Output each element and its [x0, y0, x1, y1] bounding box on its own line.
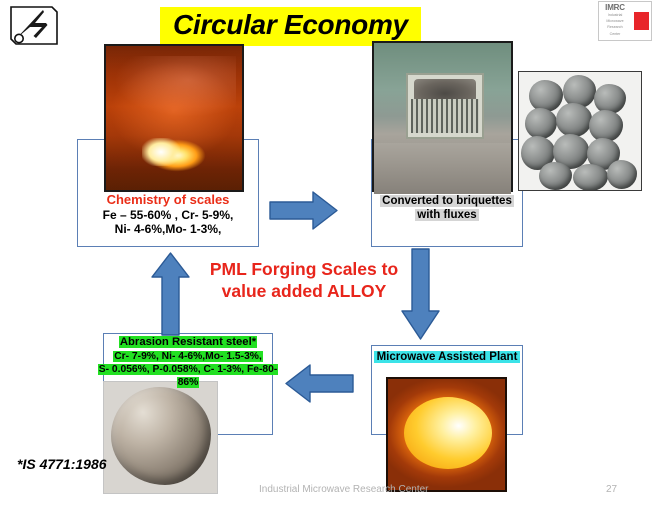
- alloy-line-3-text: S- 0.056%, P-0.058%, C- 1-3%, Fe-80-: [98, 364, 279, 375]
- press-grate: [411, 99, 479, 133]
- pml-logo-icon: [6, 3, 62, 48]
- briquette: [607, 160, 637, 189]
- photo-briquetting-press: [372, 41, 513, 192]
- photo-forging-furnace: [104, 44, 244, 192]
- plant-glow: [404, 397, 492, 469]
- label-abrasion-resistant-steel: Abrasion Resistant steel* Cr- 7-9%, Ni- …: [97, 335, 279, 390]
- center-caption: PML Forging Scales to value added ALLOY: [186, 258, 422, 303]
- alloy-line-4-text: 86%: [177, 377, 200, 388]
- scales-heading: Chemistry of scales: [79, 192, 257, 208]
- briquette: [525, 108, 557, 139]
- slide-canvas: IMRC Industrial Microwave Research Cente…: [0, 0, 658, 513]
- briquettes-line-2-text: with fluxes: [415, 209, 478, 221]
- alloy-line-2: Cr- 7-9%, Ni- 4-6%,Mo- 1.5-3%,: [97, 350, 279, 363]
- label-microwave-assisted-plant: Microwave Assisted Plant: [371, 350, 523, 364]
- arrow-plant-to-alloy: [285, 363, 354, 404]
- imrc-subtitle-line-2: Microwave: [599, 19, 631, 24]
- footer-slide-number: 27: [606, 484, 617, 495]
- photo-alloy-ingot: [103, 381, 218, 494]
- scales-composition-line-1: Fe – 55-60% , Cr- 5-9%,: [79, 208, 257, 223]
- press-floor: [374, 143, 511, 194]
- imrc-red-square-icon: [634, 12, 649, 30]
- alloy-line-3: S- 0.056%, P-0.058%, C- 1-3%, Fe-80-: [97, 363, 279, 376]
- footnote-standard-reference: *IS 4771:1986: [17, 456, 107, 472]
- arrow-alloy-to-scales: [150, 252, 191, 336]
- furnace-hot-billet: [142, 138, 180, 166]
- alloy-line-1-text: Abrasion Resistant steel*: [119, 336, 257, 348]
- center-caption-line-2: value added ALLOY: [186, 280, 422, 302]
- scales-composition-line-2: Ni- 4-6%,Mo- 1-3%,: [79, 222, 257, 237]
- briquette: [529, 80, 563, 112]
- imrc-mark-wrap: [631, 2, 651, 40]
- alloy-line-4: 86%: [97, 376, 279, 389]
- imrc-logo: IMRC Industrial Microwave Research Cente…: [598, 1, 652, 41]
- arrow-scales-to-briquettes: [269, 190, 338, 231]
- briquette: [539, 162, 572, 190]
- center-caption-line-1: PML Forging Scales to: [186, 258, 422, 280]
- briquette: [594, 84, 626, 114]
- plant-label-text: Microwave Assisted Plant: [374, 351, 521, 363]
- label-converted-to-briquettes: Converted to briquettes with fluxes: [371, 194, 523, 222]
- imrc-title: IMRC: [599, 4, 631, 12]
- footer-organization: Industrial Microwave Research Center: [259, 484, 429, 495]
- photo-briquette-pile: [518, 71, 642, 191]
- imrc-subtitle-line-3: Research: [599, 25, 631, 30]
- briquettes-line-1-text: Converted to briquettes: [380, 195, 514, 207]
- press-frame: [406, 73, 484, 139]
- furnace-haze: [116, 56, 236, 116]
- briquette: [573, 164, 608, 191]
- plant-label-row: Microwave Assisted Plant: [371, 350, 523, 364]
- briquette: [589, 110, 623, 142]
- imrc-logo-text: IMRC Industrial Microwave Research Cente…: [599, 2, 631, 40]
- label-chemistry-of-scales: Chemistry of scales Fe – 55-60% , Cr- 5-…: [79, 192, 257, 237]
- imrc-subtitle-line-4: Center: [599, 32, 631, 37]
- imrc-subtitle-line-1: Industrial: [599, 13, 631, 18]
- briquettes-line-2: with fluxes: [371, 208, 523, 222]
- alloy-line-2-text: Cr- 7-9%, Ni- 4-6%,Mo- 1.5-3%,: [113, 351, 263, 362]
- photo-microwave-plant: [386, 377, 507, 492]
- briquette: [556, 103, 592, 137]
- alloy-line-1: Abrasion Resistant steel*: [97, 335, 279, 350]
- briquettes-line-1: Converted to briquettes: [371, 194, 523, 208]
- alloy-ingot-shape: [111, 387, 211, 485]
